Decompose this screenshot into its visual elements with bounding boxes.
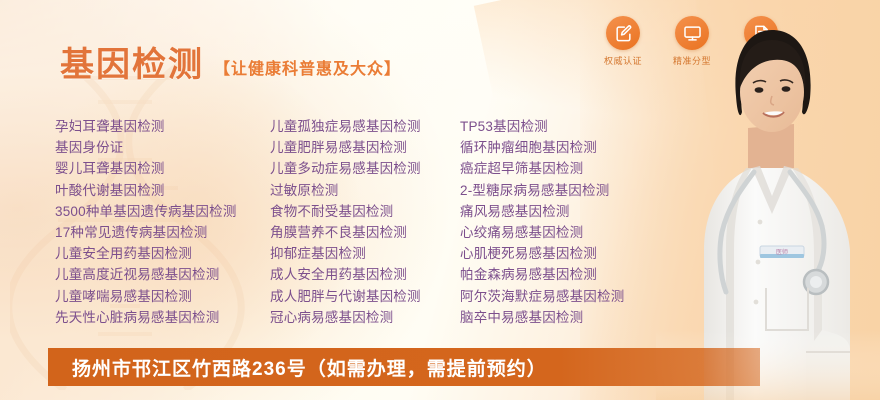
list-item[interactable]: 脑卒中易感基因检测 (460, 307, 690, 328)
gene-test-list: 孕妇耳聋基因检测 基因身份证 婴儿耳聋基因检测 叶酸代谢基因检测 3500种单基… (55, 116, 690, 328)
address-text: 扬州市邗江区竹西路236号（如需办理，需提前预约） (72, 348, 547, 386)
list-item[interactable]: 角膜营养不良基因检测 (270, 222, 460, 243)
list-item[interactable]: 儿童哮喘易感基因检测 (55, 286, 270, 307)
list-item[interactable]: 2-型糖尿病易感基因检测 (460, 180, 690, 201)
list-item[interactable]: 成人肥胖与代谢基因检测 (270, 286, 460, 307)
badge-label: 轻松自检 (742, 54, 780, 67)
list-item[interactable]: 儿童肥胖易感基因检测 (270, 137, 460, 158)
list-item[interactable]: 过敏原检测 (270, 180, 460, 201)
list-item[interactable]: 17种常见遗传病基因检测 (55, 222, 270, 243)
list-item[interactable]: 抑郁症基因检测 (270, 243, 460, 264)
list-item[interactable]: 阿尔茨海默症易感基因检测 (460, 286, 690, 307)
list-item[interactable]: 儿童安全用药基因检测 (55, 243, 270, 264)
list-item[interactable]: 儿童高度近视易感基因检测 (55, 264, 270, 285)
list-item[interactable]: 循环肿瘤细胞基因检测 (460, 137, 690, 158)
badge-easy-self-check[interactable]: 轻松自检 (734, 16, 788, 67)
list-item[interactable]: 孕妇耳聋基因检测 (55, 116, 270, 137)
badge-icon-wrap (744, 16, 778, 50)
list-item[interactable]: 食物不耐受基因检测 (270, 201, 460, 222)
list-item[interactable]: 婴儿耳聋基因检测 (55, 158, 270, 179)
list-column-1: 孕妇耳聋基因检测 基因身份证 婴儿耳聋基因检测 叶酸代谢基因检测 3500种单基… (55, 116, 270, 328)
list-item[interactable]: 儿童多动症易感基因检测 (270, 158, 460, 179)
list-item[interactable]: 心肌梗死易感基因检测 (460, 243, 690, 264)
list-item[interactable]: 帕金森病易感基因检测 (460, 264, 690, 285)
list-item[interactable]: 癌症超早筛基因检测 (460, 158, 690, 179)
list-item[interactable]: 成人安全用药基因检测 (270, 264, 460, 285)
gene-testing-banner: 基因检测 【让健康科普惠及大众】 权威认证 精准分型 (0, 0, 880, 400)
list-item[interactable]: 心绞痛易感基因检测 (460, 222, 690, 243)
list-column-3: TP53基因检测 循环肿瘤细胞基因检测 癌症超早筛基因检测 2-型糖尿病易感基因… (460, 116, 690, 328)
monitor-icon (683, 24, 702, 43)
svg-text:医师: 医师 (776, 248, 788, 256)
list-item[interactable]: 儿童孤独症易感基因检测 (270, 116, 460, 137)
certificate-pen-icon (614, 24, 633, 43)
badge-authority-certified[interactable]: 权威认证 (596, 16, 650, 67)
list-item[interactable]: TP53基因检测 (460, 116, 690, 137)
list-column-2: 儿童孤独症易感基因检测 儿童肥胖易感基因检测 儿童多动症易感基因检测 过敏原检测… (270, 116, 460, 328)
list-item[interactable]: 3500种单基因遗传病基因检测 (55, 201, 270, 222)
feature-badges: 权威认证 精准分型 轻松自检 (596, 16, 788, 67)
banner-header: 基因检测 【让健康科普惠及大众】 (60, 48, 401, 82)
page-subtitle: 【让健康科普惠及大众】 (214, 55, 401, 82)
list-item[interactable]: 叶酸代谢基因检测 (55, 180, 270, 201)
badge-icon-wrap (675, 16, 709, 50)
list-item[interactable]: 基因身份证 (55, 137, 270, 158)
list-item[interactable]: 痛风易感基因检测 (460, 201, 690, 222)
list-item[interactable]: 先天性心脏病易感基因检测 (55, 307, 270, 328)
list-item[interactable]: 冠心病易感基因检测 (270, 307, 460, 328)
page-title: 基因检测 (60, 48, 204, 82)
badge-label: 权威认证 (604, 54, 642, 67)
report-document-icon (752, 24, 771, 43)
badge-label: 精准分型 (673, 54, 711, 67)
badge-precise-typing[interactable]: 精准分型 (665, 16, 719, 67)
badge-icon-wrap (606, 16, 640, 50)
